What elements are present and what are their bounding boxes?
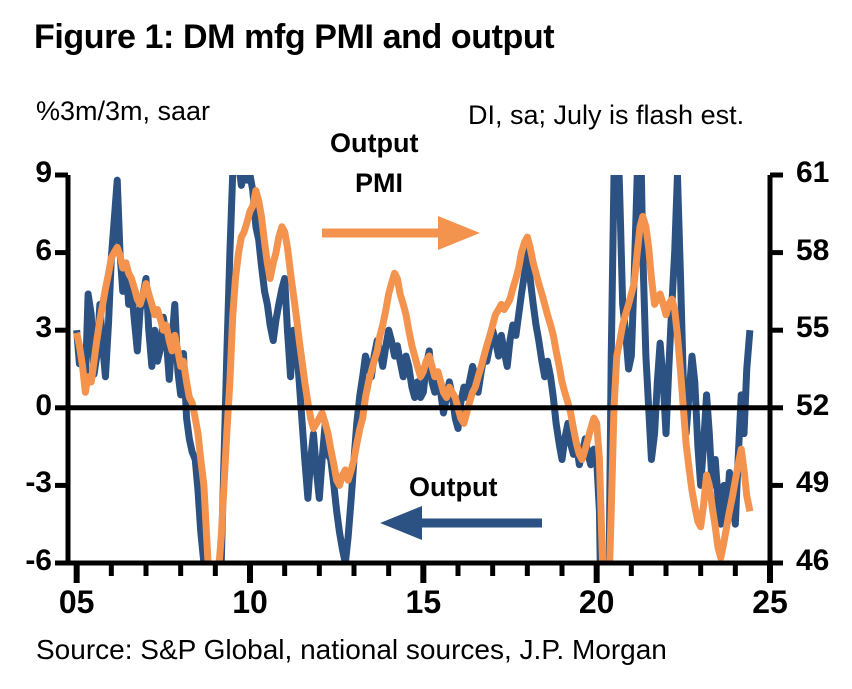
x-axis-tick-label: 10 (220, 584, 280, 621)
figure-container: Figure 1: DM mfg PMI and output %3m/3m, … (0, 0, 852, 689)
x-axis-tick-label: 15 (393, 584, 453, 621)
x-axis-tick-label: 05 (47, 584, 107, 621)
y-axis-right-tick-label: 46 (796, 544, 829, 578)
y-axis-right-tick-label: 52 (796, 389, 829, 423)
y-axis-right-tick-label: 61 (796, 156, 829, 190)
y-axis-left-tick-label: 9 (6, 156, 52, 190)
x-axis-tick-label: 20 (567, 584, 627, 621)
y-axis-left-tick-label: 0 (6, 389, 52, 423)
y-axis-right-tick-label: 49 (796, 466, 829, 500)
y-axis-left-tick-label: -6 (6, 544, 52, 578)
y-axis-left-tick-label: 6 (6, 234, 52, 268)
y-axis-right-tick-label: 55 (796, 311, 829, 345)
y-axis-right-tick-label: 58 (796, 234, 829, 268)
arrow-head-output (380, 506, 422, 540)
arrow-head-output-pmi (438, 216, 480, 250)
x-axis-tick-label: 25 (740, 584, 800, 621)
y-axis-left-tick-label: -3 (6, 466, 52, 500)
y-axis-left-tick-label: 3 (6, 311, 52, 345)
